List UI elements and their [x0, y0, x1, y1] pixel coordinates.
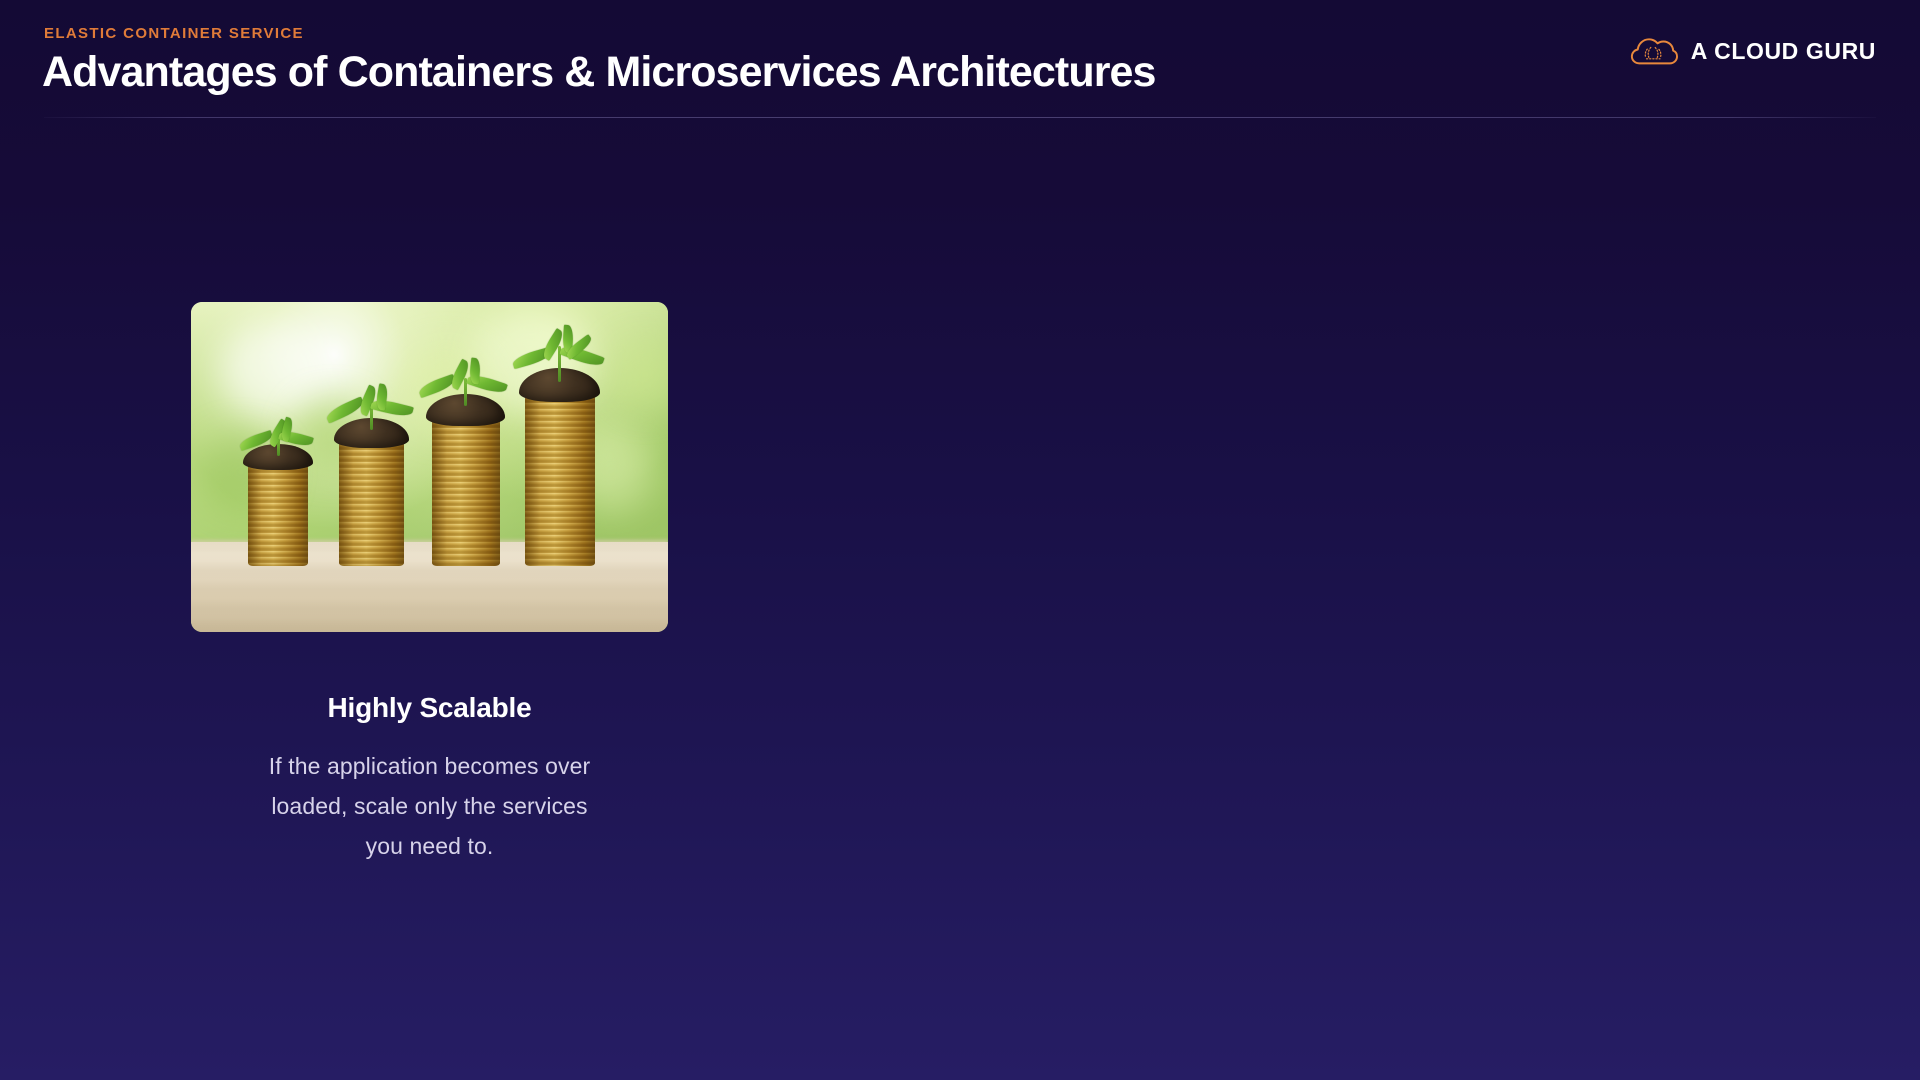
header-divider: [44, 117, 1876, 118]
brand-name-label: A CLOUD GURU: [1691, 38, 1876, 65]
course-eyebrow-label: ELASTIC CONTAINER SERVICE: [44, 25, 304, 42]
feature-card: Highly Scalable If the application becom…: [191, 302, 668, 632]
coin-column: [525, 391, 595, 566]
coin-column: [339, 438, 404, 566]
page-title: Advantages of Containers & Microservices…: [42, 48, 1156, 97]
card-body-line: you need to.: [191, 826, 668, 866]
presentation-slide: ELASTIC CONTAINER SERVICE Advantages of …: [0, 0, 1920, 1080]
coin-stacks-growth-image: [191, 302, 668, 632]
bokeh-highlight: [220, 322, 328, 418]
card-heading: Highly Scalable: [191, 692, 668, 724]
card-body-text: If the application becomes over loaded, …: [191, 746, 668, 866]
coin-column: [248, 461, 308, 566]
coin-column: [432, 416, 500, 566]
slide-header: ELASTIC CONTAINER SERVICE Advantages of …: [44, 0, 1876, 118]
card-body-line: loaded, scale only the services: [191, 786, 668, 826]
brand-logo: A CLOUD GURU: [1630, 33, 1876, 69]
card-body-line: If the application becomes over: [191, 746, 668, 786]
cloud-brain-icon: [1630, 33, 1678, 69]
